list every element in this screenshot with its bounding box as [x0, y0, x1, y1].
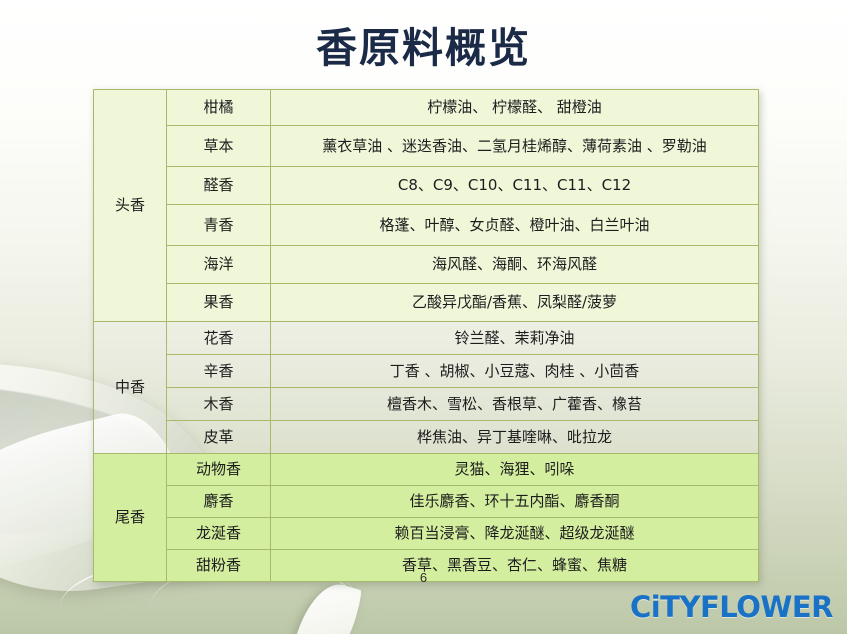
table-row: 龙涎香赖百当浸膏、降龙涎醚、超级龙涎醚 — [94, 518, 759, 550]
note-group-cell: 中香 — [94, 322, 167, 454]
page-title: 香原料概览 — [0, 14, 847, 74]
aroma-materials-cell: C8、C9、C10、C11、C11、C12 — [271, 167, 759, 205]
table-row: 皮革桦焦油、异丁基喹啉、吡拉龙 — [94, 421, 759, 454]
table-row: 草本薰衣草油 、迷迭香油、二氢月桂烯醇、薄荷素油 、罗勒油 — [94, 126, 759, 167]
note-group-cell: 头香 — [94, 90, 167, 322]
aroma-category-cell: 柑橘 — [167, 90, 271, 126]
aroma-materials-cell: 檀香木、雪松、香根草、广藿香、橡苔 — [271, 388, 759, 421]
aroma-category-cell: 果香 — [167, 284, 271, 322]
aroma-materials-cell: 灵猫、海狸、吲哚 — [271, 454, 759, 486]
note-group-cell: 尾香 — [94, 454, 167, 582]
aroma-category-cell: 皮革 — [167, 421, 271, 454]
aroma-category-cell: 麝香 — [167, 486, 271, 518]
aroma-materials-cell: 乙酸异戊酯/香蕉、凤梨醛/菠萝 — [271, 284, 759, 322]
aroma-materials-cell: 佳乐麝香、环十五内酯、麝香酮 — [271, 486, 759, 518]
table-row: 木香檀香木、雪松、香根草、广藿香、橡苔 — [94, 388, 759, 421]
aroma-materials-cell: 铃兰醛、茉莉净油 — [271, 322, 759, 355]
page-number: 6 — [0, 570, 847, 585]
aroma-category-cell: 青香 — [167, 205, 271, 246]
table-row: 辛香丁香 、胡椒、小豆蔻、肉桂 、小茴香 — [94, 355, 759, 388]
aroma-category-cell: 木香 — [167, 388, 271, 421]
aroma-materials-cell: 薰衣草油 、迷迭香油、二氢月桂烯醇、薄荷素油 、罗勒油 — [271, 126, 759, 167]
aroma-category-cell: 龙涎香 — [167, 518, 271, 550]
table-row: 醛香C8、C9、C10、C11、C11、C12 — [94, 167, 759, 205]
aroma-table-body: 头香柑橘柠檬油、 柠檬醛、 甜橙油草本薰衣草油 、迷迭香油、二氢月桂烯醇、薄荷素… — [94, 90, 759, 582]
aroma-materials-cell: 赖百当浸膏、降龙涎醚、超级龙涎醚 — [271, 518, 759, 550]
cityflower-logo: CiTYFLOWER — [630, 590, 833, 624]
aroma-materials-cell: 丁香 、胡椒、小豆蔻、肉桂 、小茴香 — [271, 355, 759, 388]
slide-canvas: 香原料概览 头香柑橘柠檬油、 柠檬醛、 甜橙油草本薰衣草油 、迷迭香油、二氢月桂… — [0, 0, 847, 634]
aroma-materials-cell: 柠檬油、 柠檬醛、 甜橙油 — [271, 90, 759, 126]
table-row: 尾香动物香灵猫、海狸、吲哚 — [94, 454, 759, 486]
table-row: 中香花香铃兰醛、茉莉净油 — [94, 322, 759, 355]
aroma-category-cell: 醛香 — [167, 167, 271, 205]
aroma-materials-cell: 海风醛、海酮、环海风醛 — [271, 246, 759, 284]
aroma-table-container: 头香柑橘柠檬油、 柠檬醛、 甜橙油草本薰衣草油 、迷迭香油、二氢月桂烯醇、薄荷素… — [93, 89, 759, 582]
table-row: 果香乙酸异戊酯/香蕉、凤梨醛/菠萝 — [94, 284, 759, 322]
aroma-category-cell: 海洋 — [167, 246, 271, 284]
table-row: 头香柑橘柠檬油、 柠檬醛、 甜橙油 — [94, 90, 759, 126]
petal-shape — [289, 577, 364, 634]
aroma-table: 头香柑橘柠檬油、 柠檬醛、 甜橙油草本薰衣草油 、迷迭香油、二氢月桂烯醇、薄荷素… — [93, 89, 759, 582]
aroma-category-cell: 动物香 — [167, 454, 271, 486]
table-row: 海洋海风醛、海酮、环海风醛 — [94, 246, 759, 284]
aroma-materials-cell: 桦焦油、异丁基喹啉、吡拉龙 — [271, 421, 759, 454]
aroma-category-cell: 辛香 — [167, 355, 271, 388]
table-row: 麝香佳乐麝香、环十五内酯、麝香酮 — [94, 486, 759, 518]
table-row: 青香格蓬、叶醇、女贞醛、橙叶油、白兰叶油 — [94, 205, 759, 246]
aroma-category-cell: 草本 — [167, 126, 271, 167]
aroma-category-cell: 花香 — [167, 322, 271, 355]
aroma-materials-cell: 格蓬、叶醇、女贞醛、橙叶油、白兰叶油 — [271, 205, 759, 246]
